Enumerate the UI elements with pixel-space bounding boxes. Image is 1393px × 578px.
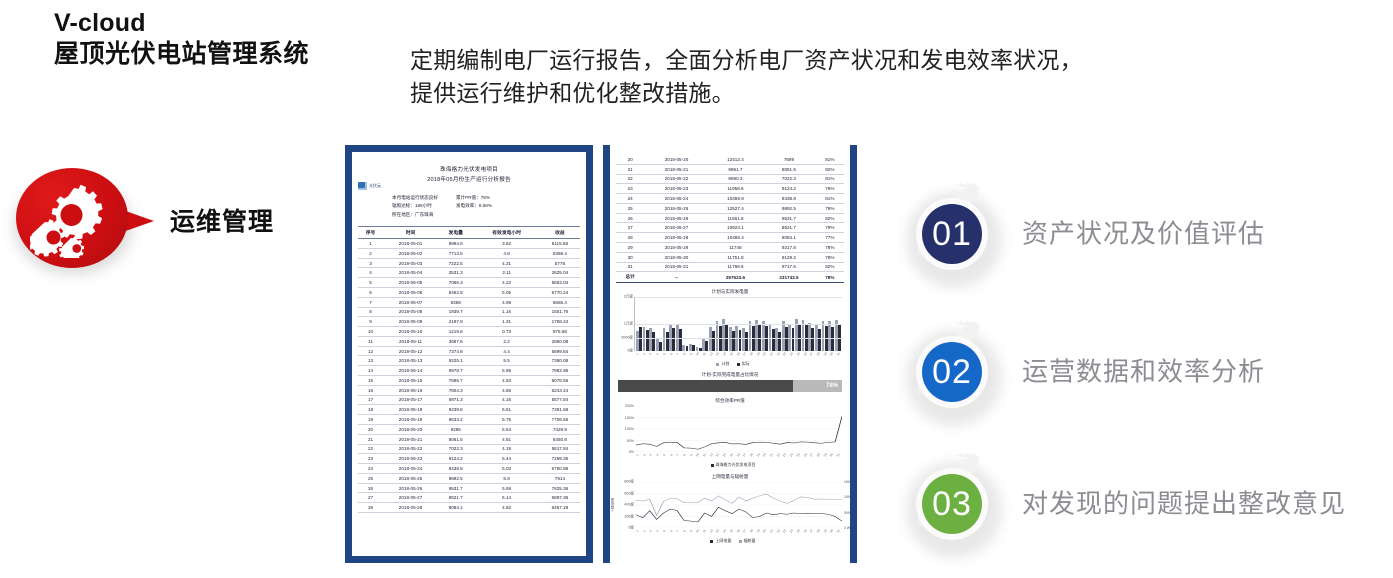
brand-block: V-cloud 屋顶光伏电站管理系统	[54, 8, 384, 69]
table-cell: 8438.8	[762, 194, 815, 204]
y-tick-label: 5000度	[621, 335, 633, 340]
x-tick-label: 11	[701, 350, 708, 358]
lead-line-2: 提供运行维护和优化整改措施。	[410, 77, 1240, 110]
x-tick-label: 20	[761, 527, 768, 535]
y-tick-label: 1万度	[624, 322, 633, 327]
x-tick-label: 8	[681, 527, 688, 535]
table-header-row: 序号时间发电量有效发电小时收益	[358, 226, 580, 238]
brand-name-en: V-cloud	[54, 8, 384, 39]
table-cell: 15	[358, 376, 383, 386]
progress-fill	[618, 380, 793, 392]
x-tick-label: 30	[828, 527, 835, 535]
table-row: 222018-05-228690.37022.381%	[616, 174, 844, 184]
table-cell: 6243.44	[540, 385, 580, 395]
column-header: 收益	[540, 226, 580, 238]
table-cell: 5.03	[473, 464, 539, 474]
x-tick-label: 3	[647, 350, 654, 358]
x-tick-label: 13	[714, 527, 721, 535]
bar	[719, 326, 722, 351]
table-cell: 2018-05-28	[644, 233, 708, 243]
y-tick-label-left: 200度	[624, 514, 634, 519]
bar	[639, 327, 642, 351]
y-tick-label-right: 5000 Wh·m²	[844, 511, 857, 515]
table-row: 总计--297623.6231743.578%	[616, 272, 844, 283]
table-cell: 6076.56	[540, 376, 580, 386]
table-row: 262018-05-269531.75.697625.36	[358, 483, 580, 493]
table-cell: 27	[358, 493, 383, 503]
gridline	[635, 324, 842, 325]
table-row: 272018-05-2710923.18621.779%	[616, 223, 844, 233]
table-cell: 1	[358, 239, 383, 249]
table-cell: 3	[358, 258, 383, 268]
table-cell: 26	[616, 213, 644, 223]
x-tick-label: 14	[721, 527, 728, 535]
x-tick-label: 5	[661, 451, 668, 459]
table-cell: 4	[358, 268, 383, 278]
table-cell: 2018-05-09	[383, 317, 438, 327]
x-tick-label: 7	[674, 527, 681, 535]
table-cell: 4.22	[473, 278, 539, 288]
table-cell: 7374.8	[438, 346, 473, 356]
table-cell: 5.5	[473, 356, 539, 366]
x-tick-label: 25	[795, 527, 802, 535]
y-tick-label: 0度	[627, 349, 633, 354]
x-tick-label: 24	[788, 451, 795, 459]
table-cell: 7222.5	[438, 258, 473, 268]
bar-chart-x-axis: 1234567891011121314151617181920212223242…	[634, 352, 842, 356]
x-tick-label: 10	[694, 527, 701, 535]
table-cell: 297623.6	[709, 272, 762, 283]
table-row: 282018-05-2810488.48084.177%	[616, 233, 844, 243]
table-cell: 9124.2	[438, 454, 473, 464]
table-cell: 6388.4	[540, 248, 580, 258]
table-cell: 0.73	[473, 327, 539, 337]
y-tick-label-right: 15000 Wh·m²	[844, 480, 857, 484]
report-table-left: 序号时间发电量有效发电小时收益 12018-05-018994.63.82511…	[358, 226, 580, 513]
table-cell: 5899.84	[540, 346, 580, 356]
report-table-right: 202018-05-2012412.4769981%212018-05-2198…	[616, 155, 844, 283]
table-cell: 78%	[816, 243, 844, 253]
table-cell: 21	[616, 164, 644, 174]
table-cell: 7299.36	[540, 454, 580, 464]
y-tick-label-right: 0 Wh·m²	[844, 526, 857, 530]
progress-bar: 78%	[618, 380, 842, 392]
x-tick-label: 8	[681, 350, 688, 358]
table-cell: 79%	[816, 203, 844, 213]
table-row: 72018-05-0783584.996686.4	[358, 297, 580, 307]
bar	[792, 328, 795, 351]
y-tick-label-right: 10000 Wh·m²	[844, 495, 857, 499]
x-tick-label: 11	[701, 527, 708, 535]
column-header: 序号	[358, 226, 383, 238]
table-cell: 2018-05-26	[383, 483, 438, 493]
table-cell: 9531.7	[762, 213, 815, 223]
x-tick-label: 24	[788, 527, 795, 535]
table-cell: 23	[358, 454, 383, 464]
feature-item-02[interactable]: 02 运营数据和效率分析	[900, 320, 1390, 420]
table-cell: 20	[358, 424, 383, 434]
table-cell: 5.51	[473, 405, 539, 415]
table-cell: 25	[616, 203, 644, 213]
gear-badge-01: 01	[900, 182, 1004, 286]
table-cell: 4.82	[473, 503, 539, 513]
table-cell: 4.8	[473, 248, 539, 258]
report-preview: 光伏云 珠海格力光伏发电项目 2018年05月份生产运行分析报告 本月电站运行状…	[345, 145, 857, 563]
table-cell: 1.31	[473, 317, 539, 327]
table-cell: 2018-05-05	[383, 278, 438, 288]
x-tick-label: 23	[781, 451, 788, 459]
table-cell: 2018-05-15	[383, 376, 438, 386]
feature-item-01[interactable]: 01 资产状况及价值评估	[900, 182, 1390, 282]
x-tick-label: 13	[714, 350, 721, 358]
table-cell: 5.14	[473, 493, 539, 503]
table-cell: 79%	[816, 223, 844, 233]
bar	[745, 332, 748, 351]
x-tick-label: 31	[835, 527, 842, 535]
table-cell: 27	[616, 223, 644, 233]
table-cell: 1219.6	[438, 327, 473, 337]
table-cell: 13	[358, 356, 383, 366]
table-row: 82018-05-081939.71.161551.76	[358, 307, 580, 317]
x-tick-label: 20	[761, 350, 768, 358]
gi-line-paths	[636, 482, 842, 528]
x-tick-label: 8	[681, 451, 688, 459]
table-cell: 5.75	[473, 415, 539, 425]
table-cell: 8690.3	[709, 174, 762, 184]
bar	[818, 329, 821, 351]
table-cell: 5778	[540, 258, 580, 268]
table-cell: 2018-05-04	[383, 268, 438, 278]
x-tick-label: 30	[828, 451, 835, 459]
table-cell: 5115.68	[540, 239, 580, 249]
x-tick-label: 1	[634, 527, 641, 535]
x-tick-label: 25	[795, 451, 802, 459]
table-row: 302018-05-3011751.89129.278%	[616, 252, 844, 262]
table-row: 222018-05-227022.34.195617.84	[358, 444, 580, 454]
table-cell: 4.16	[473, 395, 539, 405]
x-tick-label: 10	[694, 350, 701, 358]
table-cell: 12412.4	[709, 155, 762, 164]
table-row: 142018-05-149978.75.957982.96	[358, 366, 580, 376]
table-cell: 2825.04	[540, 268, 580, 278]
bar-chart-plot: 0度5000度1万度2万度	[634, 297, 842, 351]
table-cell: 8	[358, 307, 383, 317]
table-cell: 2	[358, 248, 383, 258]
table-cell: 7804.3	[438, 385, 473, 395]
progress-title: 计划-实际完成电量占比情况	[618, 372, 842, 378]
table-cell: 7982.96	[540, 366, 580, 376]
bar	[679, 329, 682, 352]
x-tick-label: 17	[741, 451, 748, 459]
bar-chart-y-axis: 0度5000度1万度2万度	[617, 297, 634, 351]
table-cell: 7022.3	[438, 444, 473, 454]
y-tick-label: 200%	[625, 404, 634, 408]
table-row: 232018-05-239124.25.447299.36	[358, 454, 580, 464]
table-cell: 2018-05-27	[644, 223, 708, 233]
table-cell: 5617.84	[540, 444, 580, 454]
table-cell: 2018-05-29	[644, 243, 708, 253]
table-row: 212018-05-219861.78061.582%	[616, 164, 844, 174]
legend-label-actual: 实际	[742, 361, 750, 366]
x-tick-label: 24	[788, 350, 795, 358]
table-cell: 2.2	[473, 336, 539, 346]
table-cell: 2.11	[473, 268, 539, 278]
bar	[659, 342, 662, 352]
table-row: 282018-05-288084.14.826467.28	[358, 503, 580, 513]
table-cell: 7699	[762, 155, 815, 164]
table-cell: 9129.2	[762, 252, 815, 262]
x-tick-label: 27	[808, 350, 815, 358]
table-cell: 7022.3	[762, 174, 815, 184]
table-cell: 6971.3	[438, 395, 473, 405]
table-cell: 9124.2	[762, 184, 815, 194]
table-cell: 2018-05-20	[644, 155, 708, 164]
table-cell: 9717.5	[762, 262, 815, 272]
x-tick-label: 21	[768, 527, 775, 535]
table-row: 42018-05-043531.32.112825.04	[358, 268, 580, 278]
table-cell: 77%	[816, 233, 844, 243]
table-cell: 82%	[816, 164, 844, 174]
bar	[831, 327, 834, 352]
table-cell: 1939.7	[438, 307, 473, 317]
table-cell: 2018-05-21	[644, 164, 708, 174]
gridline	[635, 338, 842, 339]
table-cell: 2018-05-23	[383, 454, 438, 464]
table-cell: 11751.8	[709, 252, 762, 262]
table-row: 162018-05-167804.34.656243.44	[358, 385, 580, 395]
table-row: 12018-05-018994.63.825115.68	[358, 239, 580, 249]
table-row: 182018-05-189239.85.517391.68	[358, 405, 580, 415]
table-cell: 2018-05-01	[383, 239, 438, 249]
legend-label-grid: 上网电量	[715, 538, 731, 543]
feature-label-01: 资产状况及价值评估	[1022, 214, 1265, 251]
table-cell: 6686.4	[540, 297, 580, 307]
table-cell: 9225.1	[438, 356, 473, 366]
x-tick-label: 21	[768, 451, 775, 459]
table-row: 62018-05-068462.85.056770.24	[358, 288, 580, 298]
table-cell: 2018-05-23	[644, 184, 708, 194]
report-logo: 光伏云	[358, 182, 381, 190]
table-cell: 8994.6	[438, 239, 473, 249]
table-row: 52018-05-057066.34.225653.04	[358, 278, 580, 288]
gi-chart-legend: 上网电量 辐射量	[616, 538, 844, 544]
x-tick-label: 10	[694, 451, 701, 459]
feature-item-03[interactable]: 03 对发现的问题提出整改意见	[900, 452, 1390, 552]
table-row: 312018-05-3111788.69717.582%	[616, 262, 844, 272]
bar	[772, 329, 775, 351]
table-cell: 31	[616, 262, 644, 272]
x-tick-label: 3	[647, 527, 654, 535]
table-cell: 2018-05-27	[383, 493, 438, 503]
table-cell: 7	[358, 297, 383, 307]
logo-text: 光伏云	[369, 183, 381, 189]
legend-label-plan: 计划	[721, 361, 729, 366]
x-tick-label: 30	[828, 350, 835, 358]
brand-name-cn: 屋顶光伏电站管理系统	[54, 39, 384, 70]
y-tick-label-left: 600度	[624, 491, 634, 496]
report-title-line-1: 珠海格力光伏发电项目	[358, 166, 580, 176]
table-cell: 7380.08	[540, 356, 580, 366]
x-tick-label: 18	[748, 451, 755, 459]
table-cell: 78%	[816, 272, 844, 283]
pr-chart-x-axis: 1234567891011121314151617181920212223242…	[634, 453, 842, 457]
table-row: 202018-05-2012412.4769981%	[616, 155, 844, 164]
gi-chart-y-axis-right: 0 Wh·m²5000 Wh·m²10000 Wh·m²15000 Wh·m²	[843, 482, 857, 528]
table-row: 212018-05-218061.54.816450.8	[358, 434, 580, 444]
table-cell: 4.65	[473, 385, 539, 395]
report-page-left: 光伏云 珠海格力光伏发电项目 2018年05月份生产运行分析报告 本月电站运行状…	[345, 145, 593, 563]
x-tick-label: 5	[661, 527, 668, 535]
table-cell: 2018-05-26	[644, 213, 708, 223]
table-cell: 7713.5	[438, 248, 473, 258]
meta-efficiency: 发电效率：8.58%	[456, 202, 492, 211]
table-cell: 8462.8	[438, 288, 473, 298]
y-tick-label: 2万度	[624, 295, 633, 300]
bar	[778, 332, 781, 351]
table-cell: 9892.5	[438, 473, 473, 483]
table-cell: 81%	[816, 155, 844, 164]
y-tick-label: 50%	[627, 439, 634, 443]
table-row: 272018-05-278621.75.146897.36	[358, 493, 580, 503]
gi-chart-title: 上网电量与辐射量	[616, 474, 844, 480]
table-cell: 2018-05-25	[383, 473, 438, 483]
gi-chart-plot: 上网电量 辐射量 0度200度400度600度800度 0 Wh·m²5000 …	[636, 482, 842, 528]
table-cell: 8084.1	[438, 503, 473, 513]
table-cell: 3531.3	[438, 268, 473, 278]
y-tick-label-left: 400度	[624, 503, 634, 508]
table-cell: 2018-05-22	[644, 174, 708, 184]
table-row: 112018-05-113687.62.22950.08	[358, 336, 580, 346]
table-cell: 11748	[709, 243, 762, 253]
table-cell: 3687.6	[438, 336, 473, 346]
table-cell: 14	[358, 366, 383, 376]
table-cell: 4.4	[473, 346, 539, 356]
x-tick-label: 18	[748, 527, 755, 535]
y-tick-label: 100%	[625, 427, 634, 431]
x-tick-label: 27	[808, 527, 815, 535]
feature-number-03: 03	[900, 452, 1004, 556]
legend-swatch-plan	[716, 363, 719, 366]
table-row: 242018-05-2410459.98438.881%	[616, 194, 844, 204]
table-cell: 4.81	[473, 434, 539, 444]
legend-swatch-grid	[710, 540, 713, 543]
table-cell: 18	[358, 405, 383, 415]
table-row: 32018-05-037222.54.315778	[358, 258, 580, 268]
legend-swatch-actual	[737, 363, 740, 366]
table-cell: 2018-05-22	[383, 444, 438, 454]
table-cell: 2018-05-02	[383, 248, 438, 258]
table-cell: 975.68	[540, 327, 580, 337]
table-cell: 28	[358, 503, 383, 513]
x-tick-label: 21	[768, 350, 775, 358]
table-cell: 22	[616, 174, 644, 184]
x-tick-label: 27	[808, 451, 815, 459]
table-cell: 4.53	[473, 376, 539, 386]
table-row: 192018-05-199633.25.757706.56	[358, 415, 580, 425]
feature-label-02: 运营数据和效率分析	[1022, 352, 1265, 389]
bar	[712, 331, 715, 351]
table-row: 252018-05-2512527.49892.579%	[616, 203, 844, 213]
table-cell: 2018-05-20	[383, 424, 438, 434]
bar	[825, 326, 828, 351]
x-tick-label: 7	[674, 451, 681, 459]
table-cell: 25	[358, 473, 383, 483]
legend-swatch-irradiance	[739, 540, 742, 543]
table-cell: 9239.8	[438, 405, 473, 415]
y-tick-label-left: 0度	[628, 526, 634, 531]
table-cell: 9861.7	[709, 164, 762, 174]
table-cell: 4.99	[473, 297, 539, 307]
chart-grid-irradiance: 上网电量与辐射量 上网电量 辐射量 0度200度400度600度800度 0 W…	[616, 474, 844, 544]
legend-swatch-pr	[711, 464, 714, 467]
y-tick-label: 0%	[629, 450, 634, 454]
x-tick-label: 14	[721, 350, 728, 358]
table-cell: 5577.84	[540, 395, 580, 405]
bar	[785, 327, 788, 352]
table-cell: 9892.5	[762, 203, 815, 213]
table-cell: 5.54	[473, 424, 539, 434]
column-header: 时间	[383, 226, 438, 238]
meta-status: 本月电站运行状态良好	[392, 194, 438, 203]
table-cell: 9978.7	[438, 366, 473, 376]
table-cell: 2018-05-31	[644, 262, 708, 272]
table-cell: 3.82	[473, 239, 539, 249]
x-tick-label: 31	[835, 451, 842, 459]
table-cell: 6467.28	[540, 503, 580, 513]
table-cell: 11	[358, 336, 383, 346]
table-cell: 10923.1	[709, 223, 762, 233]
report-meta-right: 累计PR值：78% 发电效率：8.58%	[456, 194, 492, 220]
table-cell: 5.69	[473, 483, 539, 493]
x-tick-label: 23	[781, 527, 788, 535]
chart-title: 计划与实际发电量	[616, 289, 844, 295]
y-tick-label-left: 800度	[624, 480, 634, 485]
table-cell: 2018-05-19	[383, 415, 438, 425]
gears-icon	[30, 182, 110, 258]
table-cell: 23	[616, 184, 644, 194]
table-row: 122018-05-127374.84.45899.84	[358, 346, 580, 356]
table-cell: 2018-05-24	[644, 194, 708, 204]
table-cell: 9	[358, 317, 383, 327]
table-cell: 8061.5	[762, 164, 815, 174]
gi-chart-x-axis: 1234567891011121314151617181920212223242…	[634, 529, 842, 533]
table-row: 232018-05-2311958.69124.276%	[616, 184, 844, 194]
table-cell: 2018-05-11	[383, 336, 438, 346]
table-cell: 5.05	[473, 288, 539, 298]
table-cell: 12527.4	[709, 203, 762, 213]
table-cell: 总计	[616, 272, 644, 283]
table-cell: 9633.2	[438, 415, 473, 425]
pr-line-path	[636, 406, 842, 452]
table-cell: 19	[358, 415, 383, 425]
table-row: 102018-05-101219.60.73975.68	[358, 327, 580, 337]
meta-region: 所在地区：广东珠海	[392, 211, 438, 220]
report-meta-left: 本月电站运行状态良好 辐照达标：185小时 所在地区：广东珠海	[392, 194, 438, 220]
progress-percent: 78%	[826, 383, 838, 389]
table-cell: 10488.4	[709, 233, 762, 243]
table-cell: 2950.08	[540, 336, 580, 346]
report-title-line-2: 2018年05月份生产运行分析报告	[358, 176, 580, 186]
table-row: 152018-05-157595.74.536076.56	[358, 376, 580, 386]
table-cell: 81%	[816, 174, 844, 184]
progress-block: 计划-实际完成电量占比情况 78%	[618, 372, 842, 392]
lead-paragraph: 定期编制电厂运行报告，全面分析电厂资产状况和发电效率状况， 提供运行维护和优化整…	[410, 44, 1240, 111]
table-cell: 17	[358, 395, 383, 405]
table-cell: 26	[358, 483, 383, 493]
table-cell: 6897.36	[540, 493, 580, 503]
table-cell: 2018-05-13	[383, 356, 438, 366]
table-cell: 8438.8	[438, 464, 473, 474]
